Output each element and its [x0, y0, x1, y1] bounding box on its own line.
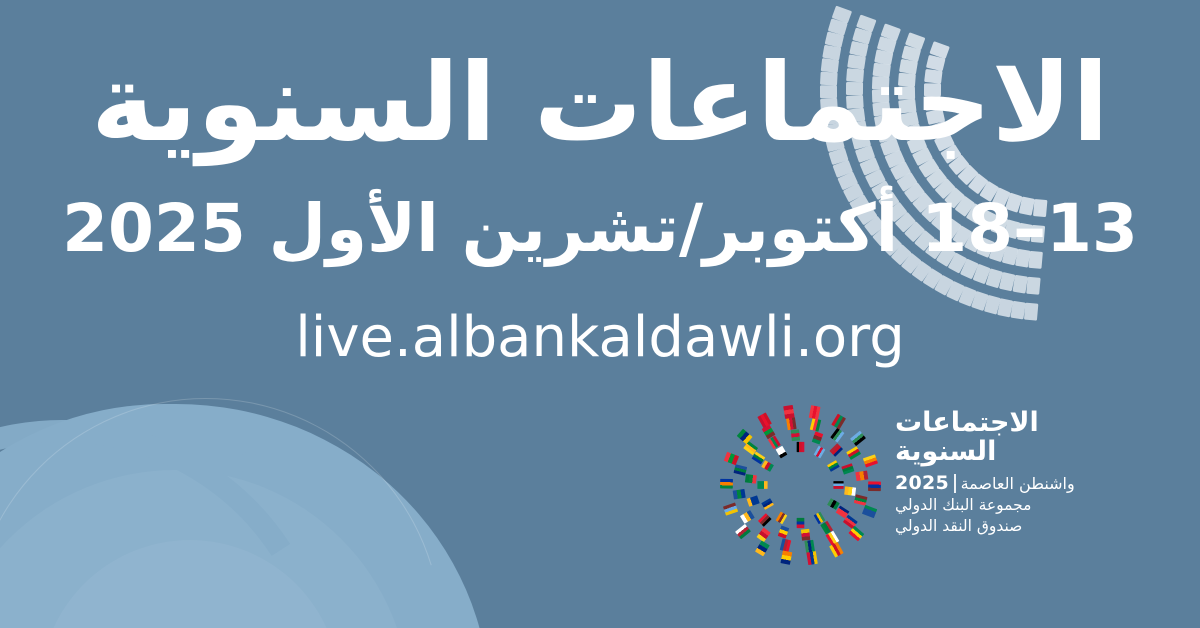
annual-meetings-lockup: الاجتماعات السنوية 2025 واشنطن العاصمة م… — [715, 408, 1080, 583]
crescent-arc-cap — [238, 452, 260, 474]
lockup-city: واشنطن العاصمة — [961, 474, 1075, 493]
brush-circle-inner-shape — [0, 470, 410, 628]
page-title: الاجتماعات السنوية — [0, 50, 1200, 158]
event-dateline: 13–18 أكتوبر/تشرين الأول 2025 — [0, 196, 1200, 262]
lockup-text-block: الاجتماعات السنوية 2025 واشنطن العاصمة م… — [895, 408, 1080, 537]
lockup-org-line1: مجموعة البنك الدولي — [895, 495, 1080, 516]
flags-ring-icon — [715, 400, 885, 570]
brush-circle-inner-shape-2 — [40, 540, 340, 628]
crescent-arc-shape — [0, 369, 385, 628]
brush-circle-shape — [0, 404, 490, 628]
lockup-heading-line1: الاجتماعات — [895, 408, 1080, 437]
lockup-city-row: 2025 واشنطن العاصمة — [895, 472, 1080, 495]
lockup-heading-line2: السنوية — [895, 437, 1080, 466]
event-url[interactable]: live.albankaldawli.org — [0, 310, 1200, 366]
poster-canvas: الاجتماعات السنوية 13–18 أكتوبر/تشرين ال… — [0, 0, 1200, 628]
lockup-divider — [954, 474, 956, 493]
lockup-org-line2: صندوق النقد الدولي — [895, 516, 1080, 537]
lockup-year: 2025 — [895, 472, 949, 495]
